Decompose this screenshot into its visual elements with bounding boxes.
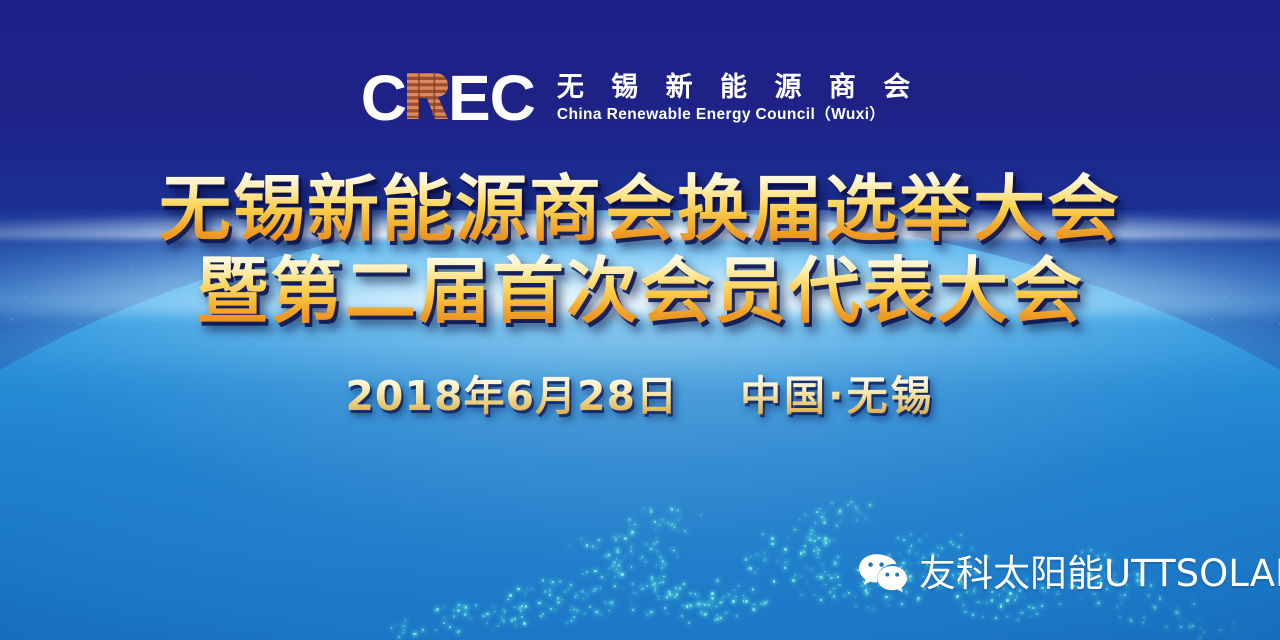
wechat-icon [858,552,908,596]
headline-line-1: 无锡新能源商会换届选举大会 [0,168,1280,250]
crec-acronym: C [361,66,535,130]
wechat-account-label: 友科太阳能UTTSOLAR [919,552,1280,596]
event-date: 2018年6月28日 [345,372,678,420]
wechat-watermark: 友科太阳能UTTSOLAR [858,552,1280,596]
event-details: 2018年6月28日 中国·无锡 [0,372,1280,420]
solar-cell-r-icon [404,71,450,121]
crec-name-block: 无 锡 新 能 源 商 会 China Renewable Energy Cou… [557,73,919,124]
crec-english-name: China Renewable Energy Council（Wuxi） [557,106,919,123]
crec-logo: C [0,66,1280,130]
poster-canvas: C [0,0,1280,640]
crec-letter-c: C [361,66,406,130]
crec-chinese-name: 无 锡 新 能 源 商 会 [557,73,919,103]
event-location: 中国·无锡 [740,372,935,420]
headline-line-2: 暨第二届首次会员代表大会 [0,250,1280,332]
crec-letters-ec: EC [448,66,535,130]
event-headline: 无锡新能源商会换届选举大会 暨第二届首次会员代表大会 [0,168,1280,332]
